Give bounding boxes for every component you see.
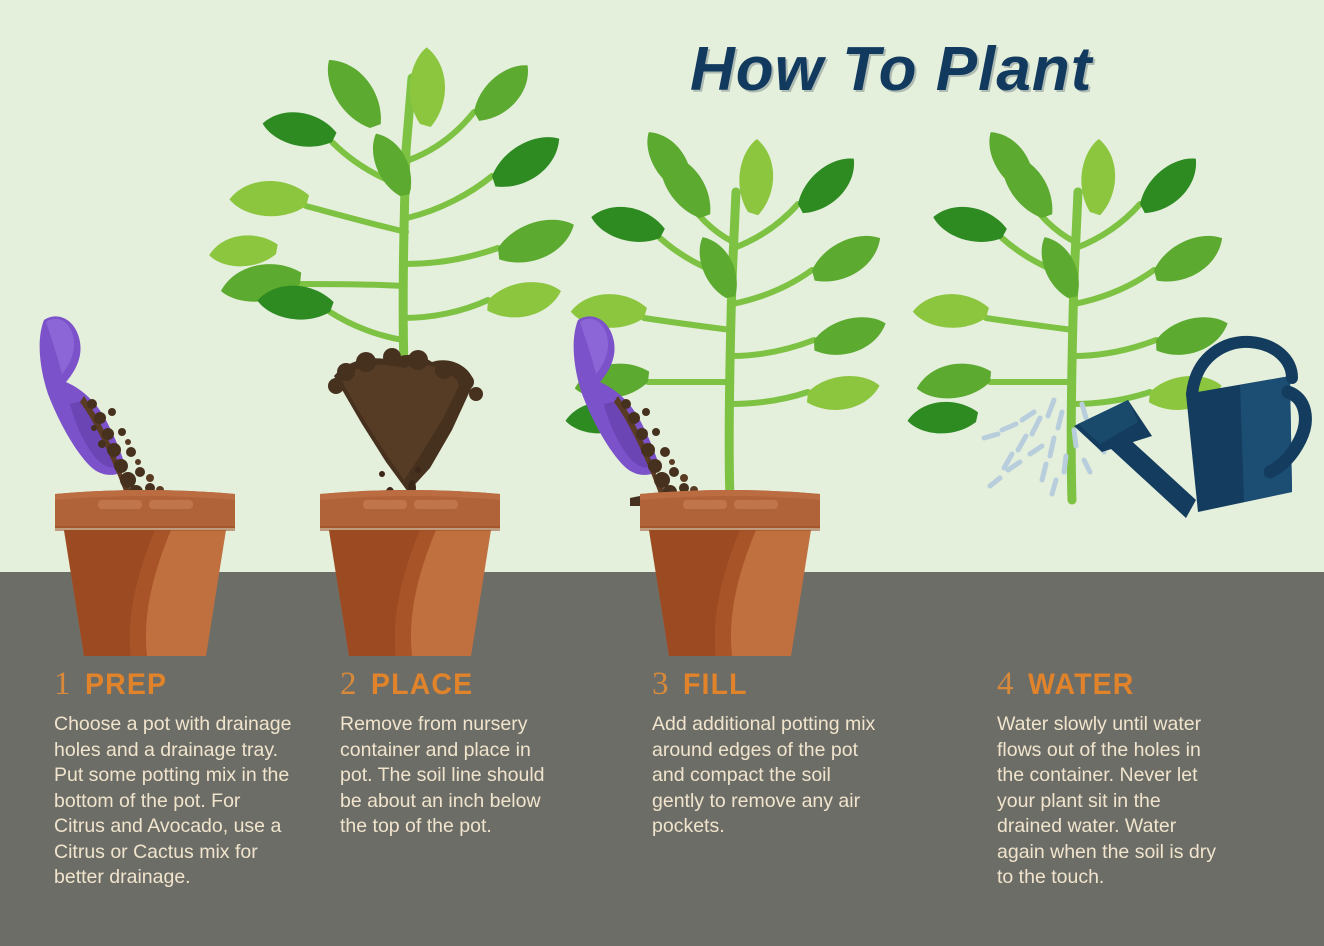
step-heading-prep: 1 PREP bbox=[54, 668, 294, 700]
plant-icon-step-4 bbox=[906, 124, 1229, 500]
watering-can-icon bbox=[1074, 342, 1305, 518]
step-title-place: PLACE bbox=[371, 670, 473, 700]
step-number-1: 1 bbox=[54, 668, 71, 701]
step-heading-fill: 3 FILL bbox=[652, 668, 884, 700]
plant-icon-step-2 bbox=[208, 45, 577, 368]
step-heading-place: 2 PLACE bbox=[340, 668, 565, 700]
step-body-water: Water slowly until water flows out of th… bbox=[997, 712, 1222, 891]
step-number-3: 3 bbox=[652, 668, 669, 701]
step-title-water: WATER bbox=[1028, 670, 1135, 700]
page-title: How To Plant bbox=[690, 34, 1190, 105]
step-body-place: Remove from nursery container and place … bbox=[340, 712, 565, 840]
step-heading-water: 4 WATER bbox=[997, 668, 1222, 700]
flower-pot-icon-step-1 bbox=[55, 490, 235, 656]
step-title-fill: FILL bbox=[683, 670, 748, 700]
how-to-plant-infographic: How To Plant 1 PREP Choose a pot with dr… bbox=[0, 0, 1324, 946]
step-number-4: 4 bbox=[997, 668, 1014, 701]
flower-pot-icon-step-3 bbox=[640, 490, 820, 656]
step-block-water: 4 WATER Water slowly until water flows o… bbox=[997, 668, 1222, 891]
step-block-fill: 3 FILL Add additional potting mix around… bbox=[652, 668, 884, 840]
step-block-prep: 1 PREP Choose a pot with drainage holes … bbox=[54, 668, 294, 891]
soil-icon-rootball-step-2 bbox=[328, 348, 483, 509]
step-number-2: 2 bbox=[340, 668, 357, 701]
step-body-fill: Add additional potting mix around edges … bbox=[652, 712, 884, 840]
water-droplets-icon-step-4 bbox=[984, 400, 1104, 494]
step-title-prep: PREP bbox=[85, 670, 167, 700]
flower-pot-icon-step-2 bbox=[320, 490, 500, 656]
step-block-place: 2 PLACE Remove from nursery container an… bbox=[340, 668, 565, 840]
step-body-prep: Choose a pot with drainage holes and a d… bbox=[54, 712, 294, 891]
